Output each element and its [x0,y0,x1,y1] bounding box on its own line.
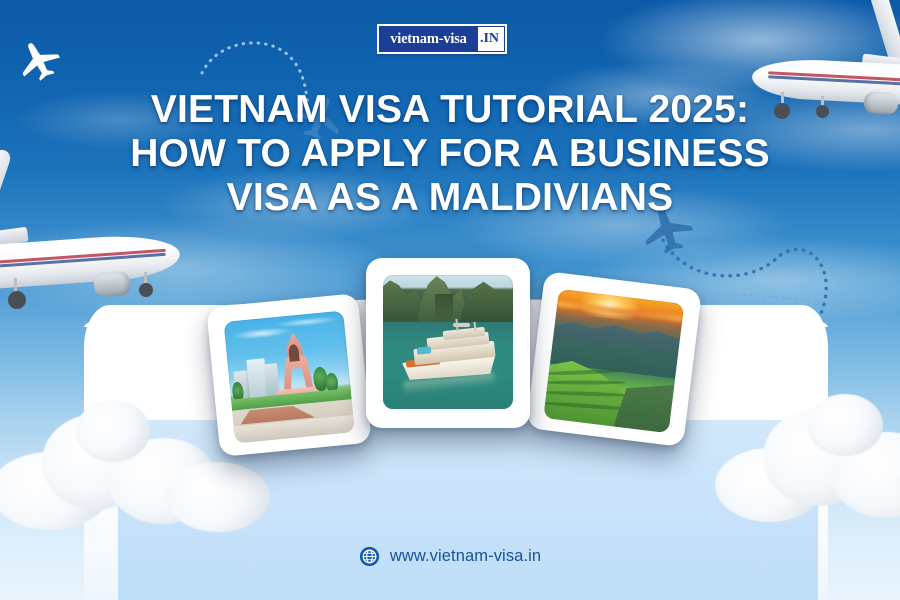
photo-sapa-rice-terraces [543,289,684,433]
brand-logo-suffix: .IN [478,27,504,51]
photo-card-center[interactable] [366,258,530,428]
brand-logo[interactable]: vietnam-visa .IN [377,24,507,54]
globe-icon [359,546,380,567]
photo-tran-phu-tower [224,311,355,444]
brand-logo-primary: vietnam-visa [380,27,478,51]
footer-website[interactable]: www.vietnam-visa.in [0,546,900,567]
photo-card-right[interactable] [526,271,702,447]
airplane-engine [93,271,131,297]
travel-banner: vietnam-visa .IN VIETNAM VISA TUTORIAL 2… [0,0,900,600]
page-title-line-3: VISA AS A MALDIVIANS [36,176,864,220]
page-title: VIETNAM VISA TUTORIAL 2025: HOW TO APPLY… [0,88,900,220]
photo-card-left[interactable] [206,293,372,457]
photo-halong-bay-cruise [383,275,513,409]
page-title-line-1: VIETNAM VISA TUTORIAL 2025: [36,88,864,132]
page-title-line-2: HOW TO APPLY FOR A BUSINESS [36,132,864,176]
airplane-silhouette-icon [14,36,66,84]
footer-url-text: www.vietnam-visa.in [390,547,541,566]
brand-logo-frame: vietnam-visa .IN [379,26,505,52]
